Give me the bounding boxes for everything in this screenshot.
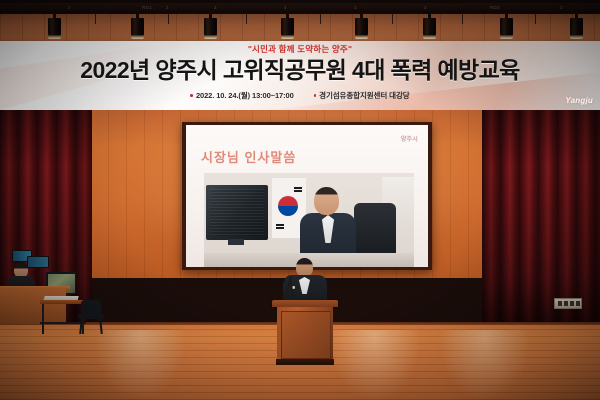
banner-venue: 경기섬유종합지원센터 대강당 bbox=[314, 90, 410, 101]
slide-monitor-stand bbox=[228, 239, 244, 245]
stage-light bbox=[131, 13, 144, 39]
wall-outlet-panel bbox=[554, 298, 582, 309]
speaker-lapel-badge bbox=[292, 286, 295, 289]
banner-subtitle: "시민과 함께 도약하는 양주" bbox=[0, 43, 600, 55]
slide-photo bbox=[204, 173, 414, 267]
truss-label: RD1 bbox=[142, 3, 152, 12]
folding-chair bbox=[78, 300, 104, 334]
projection-screen-frame: 양주시 시장님 인사말씀 bbox=[182, 122, 432, 270]
light-cable bbox=[320, 14, 321, 24]
podium-area bbox=[272, 258, 338, 366]
slide-chair bbox=[354, 203, 396, 255]
floor-light-reflection bbox=[330, 330, 420, 400]
taegeuk-icon bbox=[278, 196, 298, 216]
stage-light bbox=[570, 13, 583, 39]
light-cable bbox=[392, 14, 393, 24]
auditorium-photo: 2 RD1 2 3 4 1 2 RD2 3 "시민과 함께 도약하는 양주" 2… bbox=[0, 0, 600, 400]
truss-label: 3 bbox=[560, 3, 563, 12]
slide-logo: 양주시 bbox=[401, 134, 418, 143]
banner-venue-text: 경기섬유종합지원센터 대강당 bbox=[319, 90, 409, 101]
slide-mayor-head bbox=[314, 187, 339, 215]
truss-label: 1 bbox=[354, 3, 357, 12]
banner-datetime-text: 2022. 10. 24.(월) 13:00~17:00 bbox=[196, 90, 294, 101]
stage-light bbox=[500, 13, 513, 39]
projection-screen: 양주시 시장님 인사말씀 bbox=[186, 125, 428, 267]
bullet-icon bbox=[190, 94, 193, 97]
light-cable bbox=[462, 14, 463, 24]
lighting-truss bbox=[0, 3, 600, 12]
truss-label: RD2 bbox=[490, 3, 500, 12]
bullet-icon bbox=[314, 94, 317, 97]
podium-base bbox=[276, 359, 334, 365]
stage-curtain-right bbox=[482, 110, 600, 335]
banner-watermark: Yangju bbox=[565, 96, 593, 105]
stage-light bbox=[48, 13, 61, 39]
truss-label: 3 bbox=[214, 3, 217, 12]
truss-label: 4 bbox=[284, 3, 287, 12]
stage-light bbox=[281, 13, 294, 39]
stage-light bbox=[423, 13, 436, 39]
light-cable bbox=[168, 14, 169, 24]
microphone-icon bbox=[281, 278, 285, 282]
operator-aux-monitor bbox=[27, 256, 49, 268]
floor-light-reflection bbox=[95, 330, 185, 400]
truss-label: 2 bbox=[424, 3, 427, 12]
podium-top bbox=[272, 300, 338, 307]
event-banner: "시민과 함께 도약하는 양주" 2022년 양주시 고위직공무원 4대 폭력 … bbox=[0, 41, 600, 110]
banner-meta-row: 2022. 10. 24.(월) 13:00~17:00 경기섬유종합지원센터 … bbox=[0, 90, 600, 101]
stage-light bbox=[204, 13, 217, 39]
podium-front-panel bbox=[281, 311, 331, 359]
light-cable bbox=[95, 14, 96, 24]
truss-label: 2 bbox=[68, 3, 71, 12]
slide-monitor-icon bbox=[206, 185, 268, 240]
banner-datetime: 2022. 10. 24.(월) 13:00~17:00 bbox=[190, 90, 293, 101]
truss-label: 2 bbox=[166, 3, 169, 12]
light-cable bbox=[246, 14, 247, 24]
banner-title: 2022년 양주시 고위직공무원 4대 폭력 예방교육 bbox=[0, 56, 600, 84]
slide-title: 시장님 인사말씀 bbox=[201, 147, 296, 166]
light-cable bbox=[535, 14, 536, 24]
floor-light-reflection bbox=[440, 330, 530, 400]
stage-light bbox=[355, 13, 368, 39]
